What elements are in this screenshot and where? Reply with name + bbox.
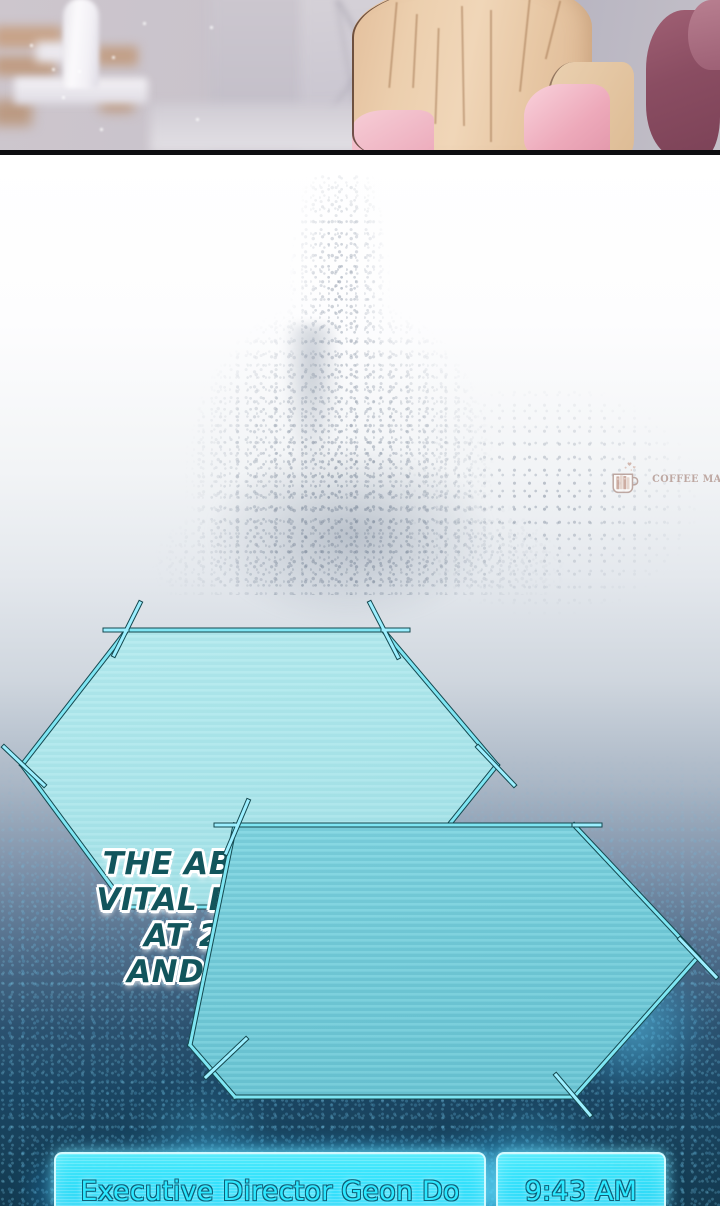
caller-name-panel[interactable]: Executive Director Geon Do: [54, 1152, 486, 1206]
call-time-panel[interactable]: 9:43 AM: [496, 1152, 666, 1206]
coffee-cup-with-books-icon: [608, 460, 642, 498]
sparkle-icon: [196, 118, 199, 121]
sparkle-icon: [52, 68, 55, 71]
panel-top-interior-scene: [0, 0, 720, 153]
speech-bubble-2[interactable]: WERE JUST EQUIPMENT MALFUNCTIONS,: [170, 645, 720, 985]
caller-name-text: Executive Director Geon Do: [80, 1178, 459, 1206]
panel-main-scene: THE ABNORMAL VITAL READINGS AT 2:47 AM A…: [0, 155, 720, 1206]
figure-outline: [352, 0, 612, 153]
sparkle-icon: [62, 96, 65, 99]
call-time-text: 9:43 AM: [525, 1178, 637, 1206]
comic-page: THE ABNORMAL VITAL READINGS AT 2:47 AM A…: [0, 0, 720, 1206]
sparkle-icon: [143, 22, 146, 25]
wood-shelf-4: [96, 46, 138, 66]
sparkle-icon: [100, 128, 103, 131]
watermark-label: COFFEE MANGA: [652, 473, 720, 485]
sparkle-icon: [112, 56, 115, 59]
sparkle-icon: [78, 70, 81, 73]
bar-panels: Executive Director Geon Do 9:43 AM: [0, 1152, 720, 1206]
call-status-bar: Executive Director Geon Do 9:43 AM: [0, 1144, 720, 1206]
watermark: COFFEE MANGA: [608, 460, 720, 498]
bottle: [63, 0, 99, 88]
sparkle-icon: [210, 26, 213, 29]
sparkle-icon: [30, 44, 33, 47]
